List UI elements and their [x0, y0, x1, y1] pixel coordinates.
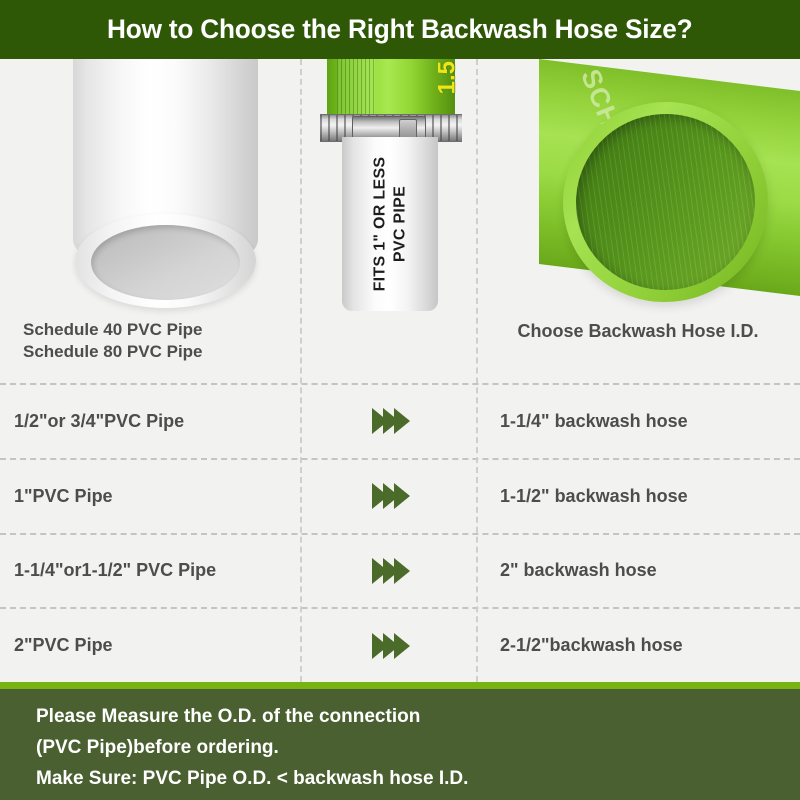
chevron-right-icon — [394, 483, 410, 509]
pvc-size-cell: 2"PVC Pipe — [0, 635, 300, 656]
pvc-pipe-bore — [91, 225, 240, 300]
header-bar: How to Choose the Right Backwash Hose Si… — [0, 0, 800, 59]
pvc-size-cell: 1"PVC Pipe — [0, 486, 300, 507]
pipe-fit-label-line1: FITS 1" OR LESS — [371, 157, 388, 292]
triple-chevron-right-icon — [372, 408, 405, 434]
table-row: 1/2"or 3/4"PVC Pipe 1-1/4" backwash hose — [0, 383, 800, 458]
table-row: 1"PVC Pipe 1-1/2" backwash hose — [0, 458, 800, 533]
infographic-page: How to Choose the Right Backwash Hose Si… — [0, 0, 800, 800]
middle-white-pipe: FITS 1" OR LESSPVC PIPE — [342, 137, 438, 311]
hose-to-pipe-connection-image: 1.5 FITS 1" OR LESSPVC PIPE — [320, 59, 462, 311]
table-row: 2"PVC Pipe 2-1/2"backwash hose — [0, 607, 800, 682]
hose-size-cell: 2-1/2"backwash hose — [476, 635, 800, 656]
green-hose-segment: 1.5 — [327, 59, 455, 121]
pvc-size-cell: 1/2"or 3/4"PVC Pipe — [0, 411, 300, 432]
hose-size-cell: 2" backwash hose — [476, 560, 800, 581]
hose-ribbing — [337, 59, 375, 121]
pvc-size-cell: 1-1/4"or1-1/2" PVC Pipe — [0, 560, 300, 581]
hose-size-cell: 1-1/2" backwash hose — [476, 486, 800, 507]
footer-line-2: (PVC Pipe)before ordering. — [36, 733, 468, 764]
footer-line-3: Make Sure: PVC Pipe O.D. < backwash hose… — [36, 764, 468, 795]
footer-accent-bar — [0, 682, 800, 689]
arrow-cell — [300, 558, 476, 584]
table-row: 1-1/4"or1-1/2" PVC Pipe 2" backwash hose — [0, 533, 800, 608]
green-backwash-hose-image: SCH — [539, 59, 800, 319]
arrow-cell — [300, 408, 476, 434]
arrow-cell — [300, 483, 476, 509]
triple-chevron-right-icon — [372, 483, 405, 509]
pipe-fit-label-line2: PVC PIPE — [391, 186, 408, 262]
triple-chevron-right-icon — [372, 633, 405, 659]
caption-schedule-40: Schedule 40 PVC Pipe — [23, 319, 283, 341]
chevron-right-icon — [394, 558, 410, 584]
chevron-right-icon — [394, 408, 410, 434]
footer-note: Please Measure the O.D. of the connectio… — [0, 682, 800, 800]
chevron-right-icon — [394, 633, 410, 659]
right-column-caption: Choose Backwash Hose I.D. — [476, 321, 800, 342]
triple-chevron-right-icon — [372, 558, 405, 584]
arrow-cell — [300, 633, 476, 659]
pipe-fit-label: FITS 1" OR LESSPVC PIPE — [370, 157, 409, 292]
footer-text: Please Measure the O.D. of the connectio… — [36, 702, 468, 794]
left-column-caption: Schedule 40 PVC Pipe Schedule 80 PVC Pip… — [23, 319, 283, 363]
column-divider-left — [300, 59, 302, 682]
caption-schedule-80: Schedule 80 PVC Pipe — [23, 341, 283, 363]
hose-size-marking: 1.5 — [433, 61, 461, 94]
column-divider-right — [476, 59, 478, 682]
hero-image-row: 1.5 FITS 1" OR LESSPVC PIPE SCH Schedule… — [0, 59, 800, 383]
footer-line-1: Please Measure the O.D. of the connectio… — [36, 702, 468, 733]
white-pvc-pipe-image — [73, 59, 258, 309]
page-title: How to Choose the Right Backwash Hose Si… — [107, 14, 692, 45]
table-top-divider — [0, 383, 800, 385]
size-chart-table: 1/2"or 3/4"PVC Pipe 1-1/4" backwash hose… — [0, 383, 800, 682]
hose-size-cell: 1-1/4" backwash hose — [476, 411, 800, 432]
